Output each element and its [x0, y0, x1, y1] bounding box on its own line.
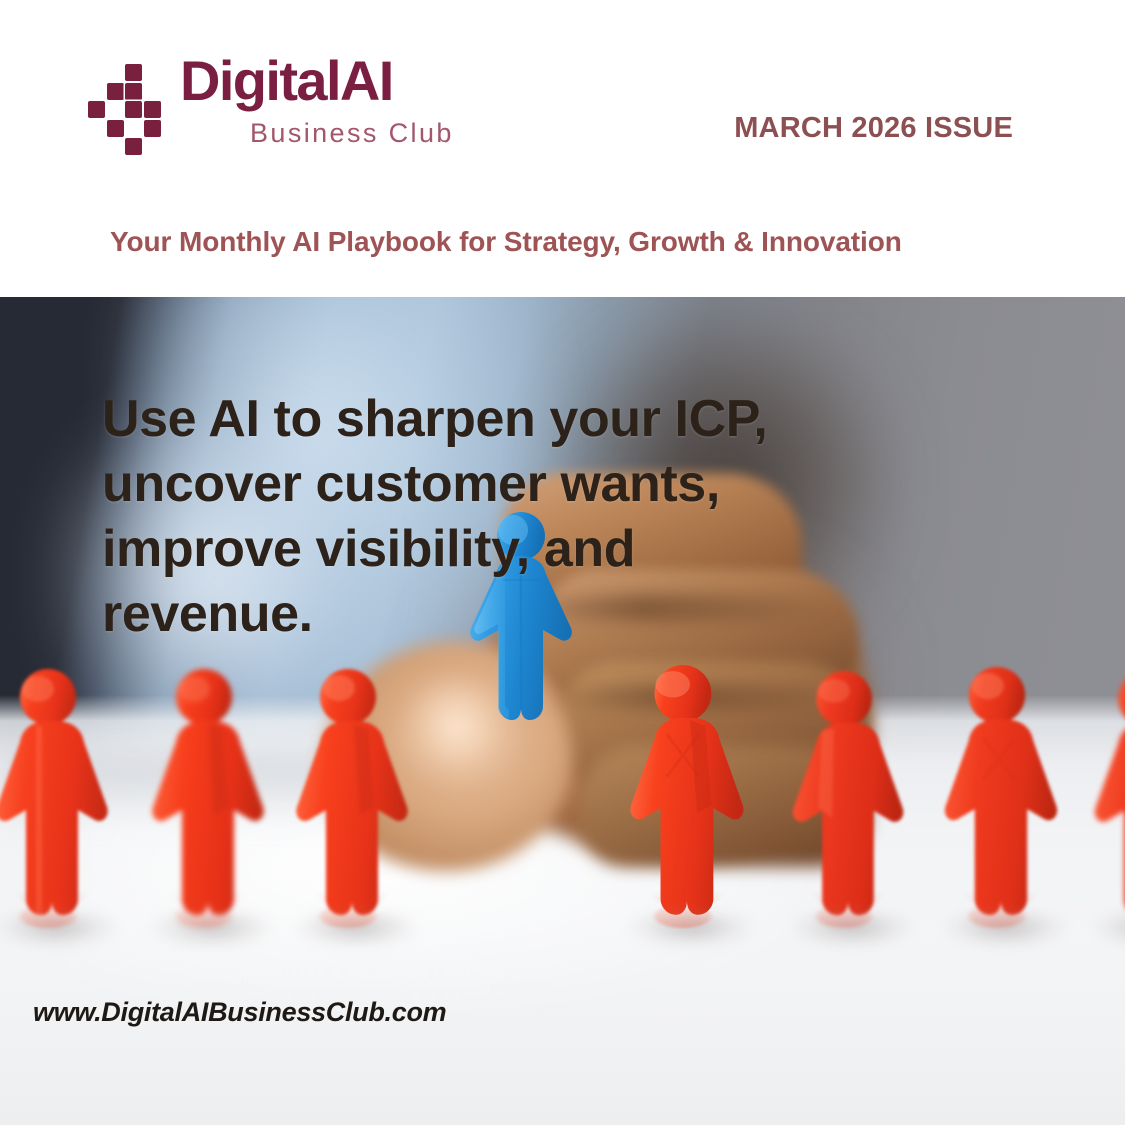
- logo-pixel-4: [125, 101, 142, 118]
- logo-pixel-6: [107, 120, 124, 137]
- logo-pixel-7: [144, 120, 161, 137]
- red-figure-6[interactable]: [940, 665, 1070, 929]
- red-figure-2[interactable]: [148, 667, 276, 929]
- newsletter-cover: Use AI to sharpen your ICP, uncover cust…: [0, 0, 1125, 1125]
- logo-pixel-0: [125, 64, 142, 81]
- red-figure-3[interactable]: [292, 667, 420, 929]
- red-figure-5[interactable]: [788, 669, 916, 929]
- blue-figure-selected[interactable]: [465, 510, 577, 738]
- logo-pixel-8: [125, 138, 142, 155]
- figure-reflection: [940, 890, 1070, 929]
- logo-pixel-3: [88, 101, 105, 118]
- figure-reflection: [292, 890, 420, 929]
- logo-title: DigitalAI: [180, 52, 454, 109]
- figure-shadow: [1095, 915, 1125, 945]
- brand-logo[interactable]: DigitalAI Business Club: [88, 52, 454, 149]
- logo-pixel-1: [107, 83, 124, 100]
- figure-reflection: [0, 890, 120, 929]
- red-figure-1[interactable]: [0, 667, 120, 929]
- logo-subtitle: Business Club: [250, 118, 454, 149]
- logo-pixel-5: [144, 101, 161, 118]
- website-url[interactable]: www.DigitalAIBusinessClub.com: [33, 997, 446, 1028]
- hero-photo: Use AI to sharpen your ICP, uncover cust…: [0, 297, 1125, 1125]
- logo-wordmark: DigitalAI Business Club: [180, 52, 454, 149]
- figure-reflection: [148, 890, 276, 929]
- logo-pixel-2: [125, 83, 142, 100]
- tagline: Your Monthly AI Playbook for Strategy, G…: [110, 226, 902, 258]
- figure-reflection: [626, 890, 756, 929]
- header-band: DigitalAI Business Club MARCH 2026 ISSUE…: [0, 0, 1125, 297]
- red-figure-4[interactable]: [626, 663, 756, 929]
- figure-reflection: [788, 890, 916, 929]
- red-figure-7[interactable]: [1090, 669, 1125, 929]
- digitalai-pixel-mark-icon: [88, 64, 160, 146]
- issue-label: MARCH 2026 ISSUE: [734, 112, 1013, 145]
